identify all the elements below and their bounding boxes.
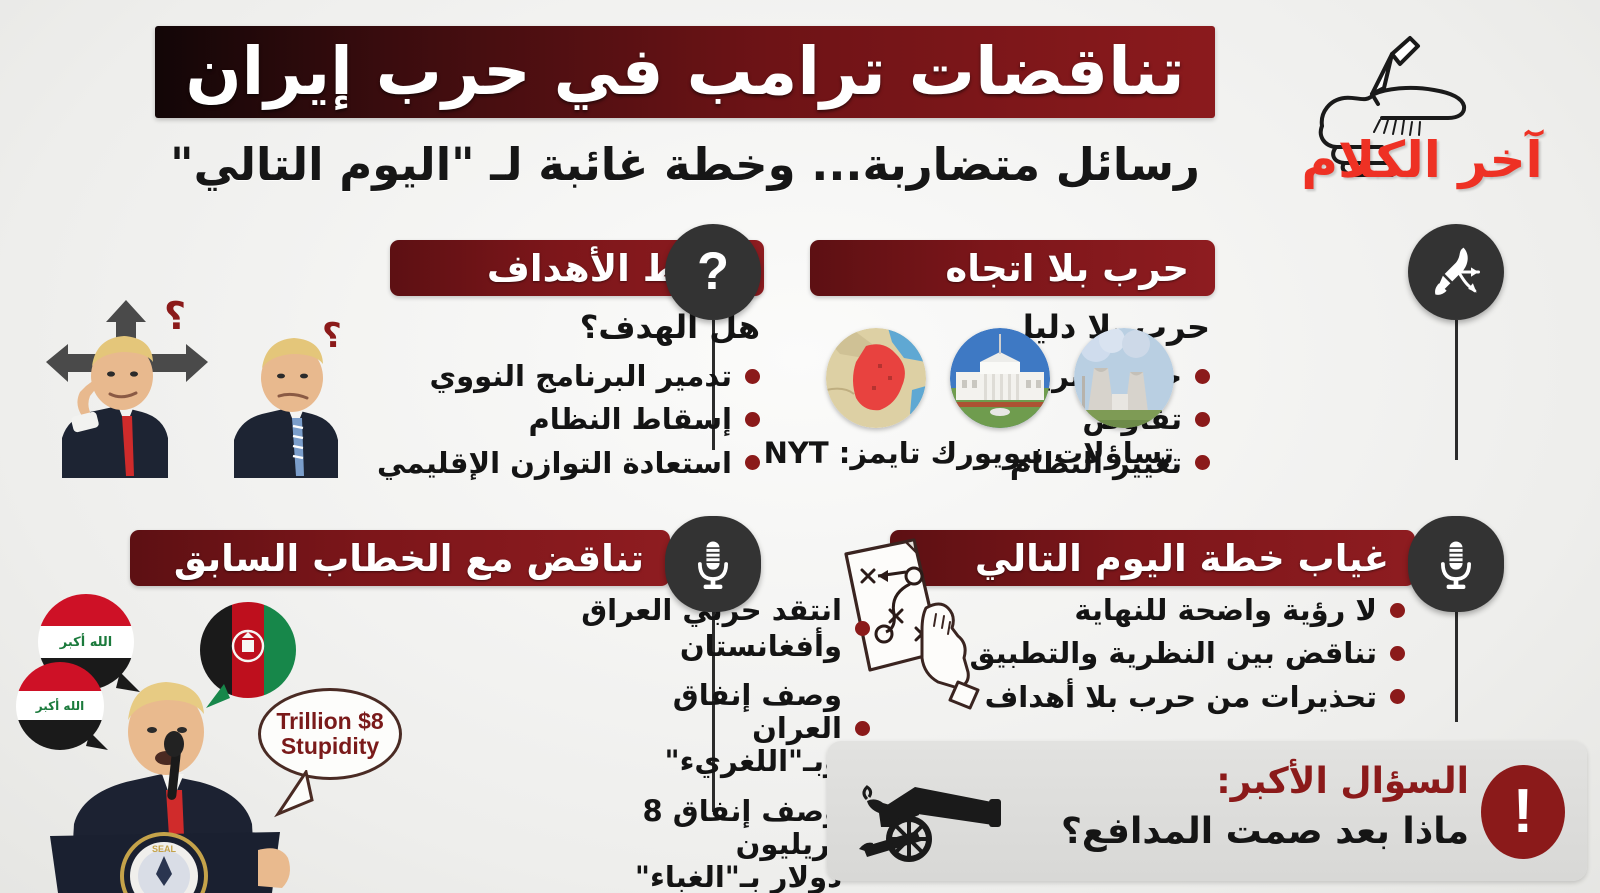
list-item: وصف إنفاق 8 تريليون دولار بـ"الغباء" <box>502 795 870 893</box>
svg-text:?: ? <box>697 242 729 301</box>
logo-text: آخر الكلام <box>1272 131 1572 189</box>
iran-iraq-map-photo <box>826 328 926 428</box>
page-subtitle-row: رسائل متضاربة... وخطة غائبة لـ "اليوم ال… <box>155 128 1215 200</box>
list-item-label: تحذيرات من حرب بلا أهداف <box>985 679 1377 715</box>
connector-line-missing-next-day-plan <box>1455 612 1458 722</box>
brand-logo: آخر الكلام <box>1262 16 1592 211</box>
microphone-glyph <box>683 534 743 594</box>
bullet-list-missing-next-day-plan: لا رؤية واضحة للنهاية تناقض بين النظرية … <box>970 592 1405 722</box>
bullet-list-contradiction-past-speech: انتقد حربي العراق وأفغانستان وصف إنفاق ا… <box>502 592 870 893</box>
list-item-label: تناقض بين النظرية والتطبيق <box>970 635 1377 671</box>
bullet-list-confused-goals: تدمير البرنامج النووي إسقاط النظام استعا… <box>377 358 760 488</box>
bullet-dot-icon <box>1390 689 1405 704</box>
list-item: استعادة التوازن الإقليمي <box>377 445 760 481</box>
bullet-dot-icon <box>1195 455 1210 470</box>
bullet-dot-icon <box>745 455 760 470</box>
list-item: لا رؤية واضحة للنهاية <box>970 592 1405 628</box>
list-item: تدمير البرنامج النووي <box>377 358 760 394</box>
exclamation-mark-icon: ! <box>1481 765 1565 859</box>
nuclear-cooling-towers-photo <box>1074 328 1174 428</box>
list-item-label: إسقاط النظام <box>529 401 733 437</box>
page-title-banner: تناقضات ترامب في حرب إيران <box>155 26 1215 118</box>
list-item: إسقاط النظام <box>377 401 760 437</box>
page-title: تناقضات ترامب في حرب إيران <box>185 39 1184 105</box>
trump-at-presidential-podium: SEAL <box>44 636 344 893</box>
bullet-dot-icon <box>855 721 870 736</box>
microphone-glyph <box>1426 534 1486 594</box>
biggest-question-text: ماذا بعد صمت المدافع؟ <box>1061 811 1469 852</box>
bullet-dot-icon <box>1390 603 1405 618</box>
bullet-dot-icon <box>855 621 870 636</box>
panel-title-missing-next-day-plan: غياب خطة اليوم التالي <box>975 540 1389 577</box>
list-item-label: تدمير البرنامج النووي <box>430 358 732 394</box>
list-item-label: لا رؤية واضحة للنهاية <box>1074 592 1377 628</box>
list-item: تناقض بين النظرية والتطبيق <box>970 635 1405 671</box>
cannon-icon <box>857 769 1017 864</box>
panel-title-war-no-direction: حرب بلا اتجاه <box>945 250 1189 287</box>
list-item-label: انتقد حربي العراق وأفغانستان <box>502 592 842 665</box>
missile-diverging-arrows-icon <box>1408 224 1504 320</box>
nyt-caption: تساؤلات نيويورك تايمز: NYT <box>826 436 1174 470</box>
bullet-dot-icon <box>1195 369 1210 384</box>
bullet-dot-icon <box>1195 412 1210 427</box>
svg-text:SEAL: SEAL <box>152 844 177 854</box>
exclamation-glyph: ! <box>1513 781 1534 843</box>
question-mark-icon: ? <box>665 224 761 320</box>
page-subtitle: رسائل متضاربة... وخطة غائبة لـ "اليوم ال… <box>170 138 1200 191</box>
bullet-dot-icon <box>745 412 760 427</box>
bullet-dot-icon <box>1390 646 1405 661</box>
microphone-icon <box>1408 516 1504 612</box>
infographic-canvas: تناقضات ترامب في حرب إيران رسائل متضاربة… <box>0 0 1600 893</box>
trump-thinking-with-arrows: ؟ ؟ <box>22 288 362 488</box>
list-item-label: وصف إنفاق العران وبـ"اللغريء" <box>602 679 842 779</box>
white-house-photo <box>950 328 1050 428</box>
list-item-label: استعادة التوازن الإقليمي <box>377 445 732 481</box>
question-mark-annotation: ؟ <box>322 316 342 356</box>
question-mark-glyph: ? <box>683 242 743 302</box>
bullet-dot-icon <box>745 369 760 384</box>
list-item: وصف إنفاق العران وبـ"اللغريء" <box>502 679 870 779</box>
biggest-question-box: ! السؤال الأكبر: ماذا بعد صمت المدافع؟ <box>827 741 1587 881</box>
nyt-photo-group: تساؤلات نيويورك تايمز: NYT <box>826 328 1174 476</box>
panel-header-war-no-direction: حرب بلا اتجاه <box>810 240 1215 296</box>
biggest-question-label: السؤال الأكبر: <box>1216 761 1469 802</box>
list-item: تحذيرات من حرب بلا أهداف <box>970 679 1405 715</box>
missile-icon-glyph <box>1426 242 1486 302</box>
panel-title-contradiction-past-speech: تناقض مع الخطاب السابق <box>174 540 644 577</box>
list-item-label: وصف إنفاق 8 تريليون دولار بـ"الغباء" <box>572 795 842 893</box>
panel-header-contradiction-past-speech: تناقض مع الخطاب السابق <box>130 530 670 586</box>
microphone-icon <box>665 516 761 612</box>
connector-line-war-no-direction <box>1455 320 1458 460</box>
question-mark-annotation: ؟ <box>164 294 186 338</box>
